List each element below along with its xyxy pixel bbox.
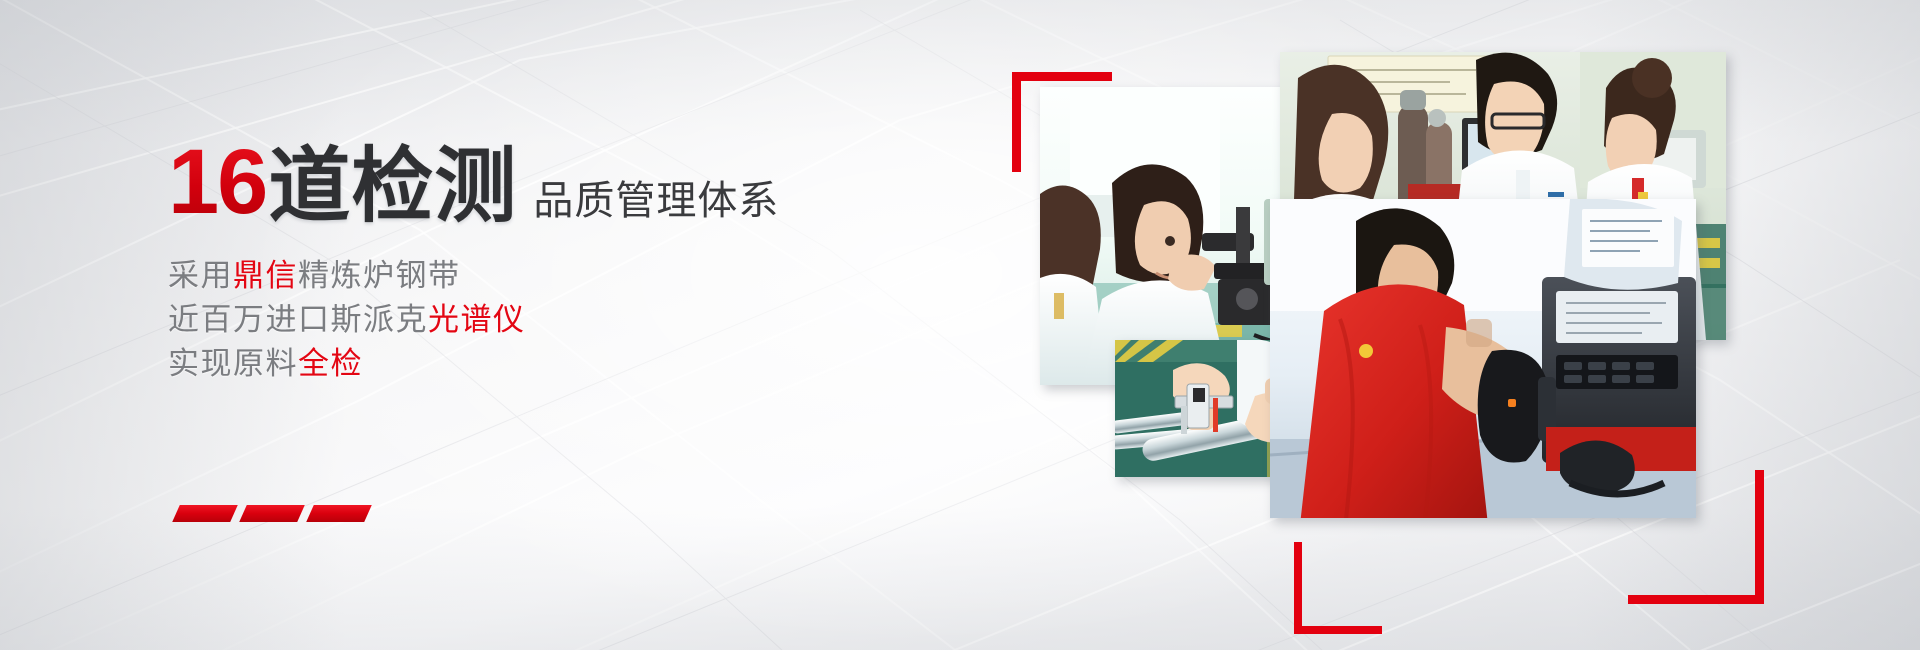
body-line-3: 实现原料全检 <box>168 342 808 386</box>
slash-icon-3 <box>306 505 372 522</box>
slash-icon-2 <box>239 505 305 522</box>
headline-block: 16 道检测 品质管理体系 采用鼎信精炼炉钢带 近百万进口斯派克光谱仪 实现原料… <box>168 136 808 386</box>
red-slash-accent <box>176 505 368 522</box>
headline-main: 道检测 <box>268 146 517 228</box>
body-line-2-part-1: 近百万进口斯派克 <box>168 302 428 337</box>
bracket-br-horizontal <box>1628 595 1764 604</box>
promo-banner: 16 道检测 品质管理体系 采用鼎信精炼炉钢带 近百万进口斯派克光谱仪 实现原料… <box>0 0 1920 650</box>
body-copy: 采用鼎信精炼炉钢带 近百万进口斯派克光谱仪 实现原料全检 <box>168 254 808 386</box>
photo-spectrometer-operator <box>1270 199 1696 518</box>
body-line-1-part-3: 精炼炉钢带 <box>298 258 461 293</box>
photo-cluster <box>1010 50 1840 620</box>
bracket-br-vertical <box>1755 470 1764 604</box>
bracket-tl-horizontal <box>1012 72 1112 81</box>
body-line-1-highlight: 鼎信 <box>233 258 298 293</box>
page-title: 16 道检测 品质管理体系 <box>168 136 808 228</box>
body-line-3-part-1: 实现原料 <box>168 346 298 381</box>
bracket-bl-vertical <box>1294 542 1302 634</box>
bracket-bottom-left-icon <box>1294 542 1382 634</box>
headline-number: 16 <box>168 136 266 228</box>
body-line-3-highlight: 全检 <box>298 346 363 381</box>
headline-subtitle: 品质管理体系 <box>533 181 779 221</box>
body-line-1: 采用鼎信精炼炉钢带 <box>168 254 808 298</box>
slash-icon-1 <box>172 505 238 522</box>
bracket-bl-horizontal <box>1294 626 1382 634</box>
bracket-tl-vertical <box>1012 72 1021 172</box>
body-line-1-part-1: 采用 <box>168 258 233 293</box>
body-line-2-highlight: 光谱仪 <box>428 302 526 337</box>
body-line-2: 近百万进口斯派克光谱仪 <box>168 298 808 342</box>
